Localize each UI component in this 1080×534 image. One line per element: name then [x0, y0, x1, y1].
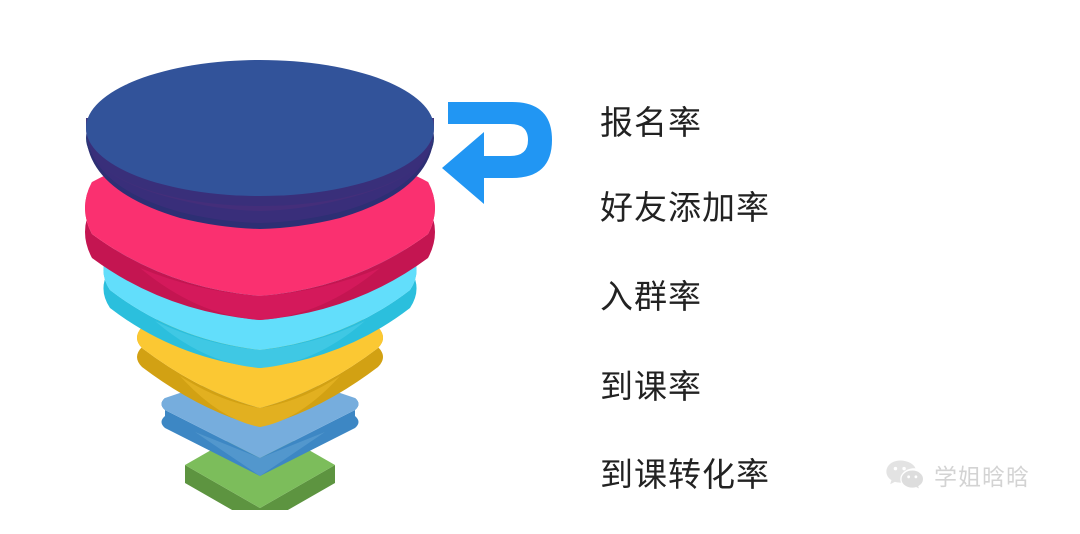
wechat-icon — [885, 458, 925, 492]
wechat-eye-2 — [902, 467, 905, 470]
arrow-shape — [442, 102, 552, 204]
wechat-watermark: 学姐晗晗 — [885, 458, 1030, 492]
u-turn-arrow-icon — [440, 92, 564, 208]
wechat-eye-3 — [907, 475, 910, 478]
wechat-bubble-small — [901, 470, 924, 490]
watermark-text: 学姐晗晗 — [934, 458, 1030, 492]
wechat-eye-1 — [894, 467, 897, 470]
stage-label-2: 入群率 — [600, 280, 702, 313]
stage-label-4: 到课转化率 — [600, 458, 770, 491]
stage-label-list: 报名率 好友添加率 入群率 到课率 到课转化率 — [600, 58, 900, 498]
funnel-graphic — [70, 40, 450, 510]
stage-label-0: 报名率 — [600, 106, 702, 139]
stage-label-1: 好友添加率 — [600, 191, 770, 224]
stage-label-3: 到课率 — [600, 370, 702, 403]
funnel-svg — [70, 40, 450, 510]
diagram-canvas: 报名率 好友添加率 入群率 到课率 到课转化率 学姐晗晗 — [0, 0, 1080, 534]
navy-layer-top — [86, 60, 434, 196]
u-turn-arrow — [440, 92, 564, 208]
wechat-eye-4 — [915, 475, 918, 478]
